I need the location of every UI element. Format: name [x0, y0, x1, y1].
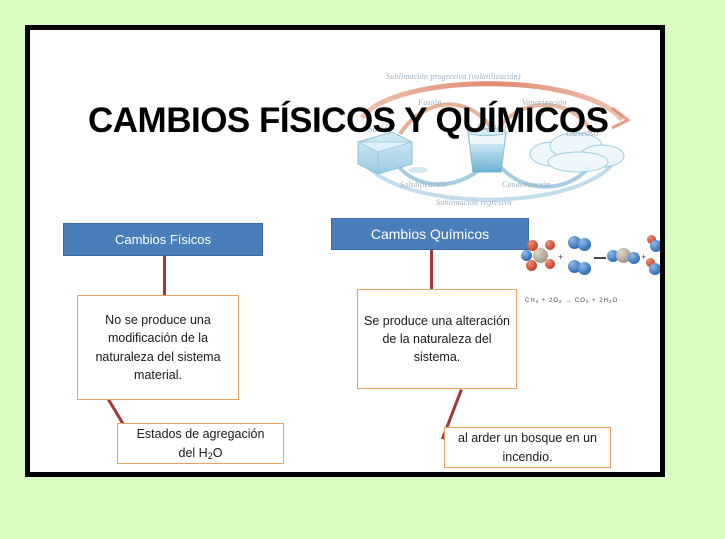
node-ejemplo-quimicos[interactable]: al arder un bosque en un incendio.: [444, 427, 611, 468]
eq-product2-sub: 2: [609, 299, 613, 304]
node-ejemplo-quimicos-label: al arder un bosque en un incendio.: [449, 429, 606, 465]
eq-product2: 2H: [599, 298, 609, 304]
eq-product1: CO: [575, 298, 586, 304]
node-definicion-quimicos-label: Se produce una alteración de la naturale…: [364, 312, 510, 366]
oxygen-atom-icon: [545, 259, 555, 269]
node-definicion-fisicos-label: No se produce una modificación de la nat…: [84, 311, 232, 384]
label-condensacion: Condensación: [502, 180, 550, 189]
ejemplo-fisicos-subscript: 2: [208, 451, 213, 461]
plus-sign-icon: +: [558, 252, 563, 262]
states-of-matter-illustration: Sublimación progresiva (volatilización) …: [340, 70, 638, 215]
oxygen-atom-icon: [545, 240, 555, 250]
states-of-matter-graphic: [340, 70, 638, 215]
connector-fisicos-vertical: [163, 256, 166, 295]
ejemplo-fisicos-line2-suffix: O: [213, 446, 223, 460]
node-definicion-fisicos[interactable]: No se produce una modificación de la nat…: [77, 295, 239, 400]
ejemplo-fisicos-line2-prefix: del H: [179, 446, 208, 460]
combustion-reaction-illustration: + + CH4 + 2O2 → CO2 + 2H2O: [517, 232, 657, 322]
node-cambios-fisicos-label: Cambios Físicos: [115, 232, 211, 247]
hydrogen-atom-icon: [650, 240, 660, 252]
eq-product2-suffix: O: [612, 298, 618, 304]
node-ejemplo-fisicos-label: Estados de agregación del H2O: [137, 425, 265, 461]
label-sublimacion-progresiva: Sublimación progresiva (volatilización): [386, 72, 521, 81]
reaction-equation-text: CH4 + 2O2 → CO2 + 2H2O: [525, 298, 618, 304]
ejemplo-fisicos-line1: Estados de agregación: [137, 427, 265, 441]
oxygen-molecule-icon: [578, 238, 591, 251]
node-definicion-quimicos[interactable]: Se produce una alteración de la naturale…: [357, 289, 517, 389]
eq-reactant1: CH: [525, 298, 536, 304]
label-sublimacion-regresiva: Sublimación regresiva: [436, 198, 512, 207]
label-solidificacion: Solidificación: [400, 180, 447, 189]
oxygen-molecule-icon: [578, 262, 591, 275]
eq-reactant1-sub: 4: [536, 299, 540, 304]
node-ejemplo-fisicos[interactable]: Estados de agregación del H2O: [117, 423, 284, 464]
oxygen-atom-icon: [628, 252, 640, 264]
page-title: CAMBIOS FÍSICOS Y QUÍMICOS: [88, 102, 608, 141]
eq-reactant2-sub: 2: [559, 299, 563, 304]
eq-plus1: +: [539, 298, 549, 304]
node-cambios-quimicos[interactable]: Cambios Químicos: [331, 218, 529, 250]
slide-canvas: Sublimación progresiva (volatilización) …: [30, 30, 660, 472]
eq-arrow: →: [563, 298, 575, 304]
node-cambios-quimicos-label: Cambios Químicos: [371, 226, 489, 242]
hydrogen-atom-icon: [649, 263, 660, 275]
connector-quimicos-vertical: [430, 250, 433, 289]
eq-plus2: +: [589, 298, 599, 304]
slide-frame: Sublimación progresiva (volatilización) …: [25, 25, 665, 477]
node-cambios-fisicos[interactable]: Cambios Físicos: [63, 223, 263, 256]
reaction-arrow-icon: [594, 257, 606, 259]
eq-product1-sub: 2: [586, 299, 590, 304]
eq-reactant2: 2O: [549, 298, 559, 304]
